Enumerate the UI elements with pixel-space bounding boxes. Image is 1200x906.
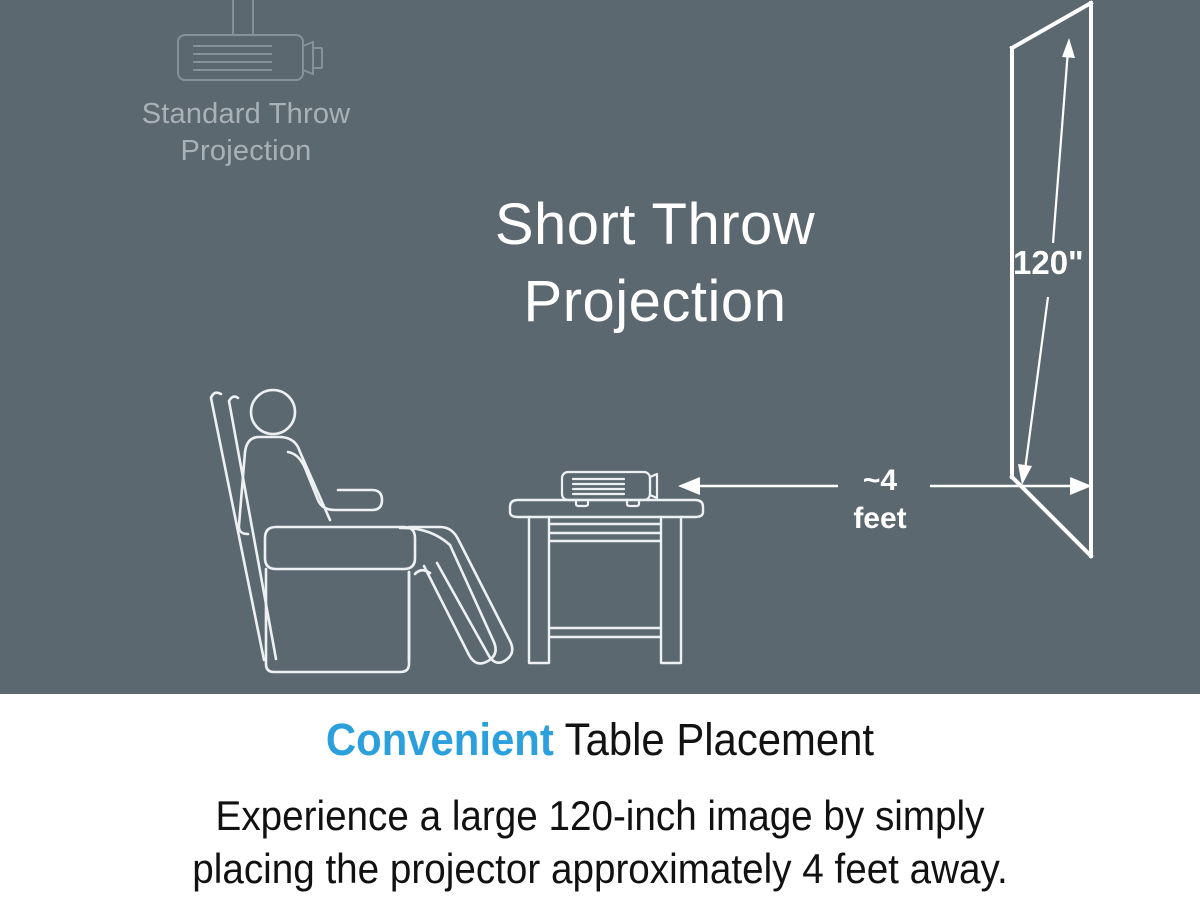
distance-label: ~4 feet — [800, 462, 960, 537]
table-projector-icon — [562, 472, 657, 506]
infographic-page: Standard Throw Projection Short Throw Pr… — [0, 0, 1200, 906]
short-throw-title: Short Throw Projection — [420, 186, 890, 340]
caption-headline-rest: Table Placement — [554, 714, 874, 765]
ceiling-projector-icon — [178, 0, 322, 80]
standard-throw-label: Standard Throw Projection — [96, 96, 396, 170]
armchair-icon — [211, 393, 512, 672]
caption-body: Experience a large 120-inch image by sim… — [48, 789, 1152, 896]
caption-headline: Convenient Table Placement — [42, 714, 1158, 766]
screen-size-label: 120" — [1013, 246, 1084, 279]
caption-block: Convenient Table Placement Experience a … — [0, 694, 1200, 906]
diagram-panel: Standard Throw Projection Short Throw Pr… — [0, 0, 1200, 694]
table-icon — [510, 500, 703, 663]
caption-headline-accent: Convenient — [326, 714, 554, 765]
